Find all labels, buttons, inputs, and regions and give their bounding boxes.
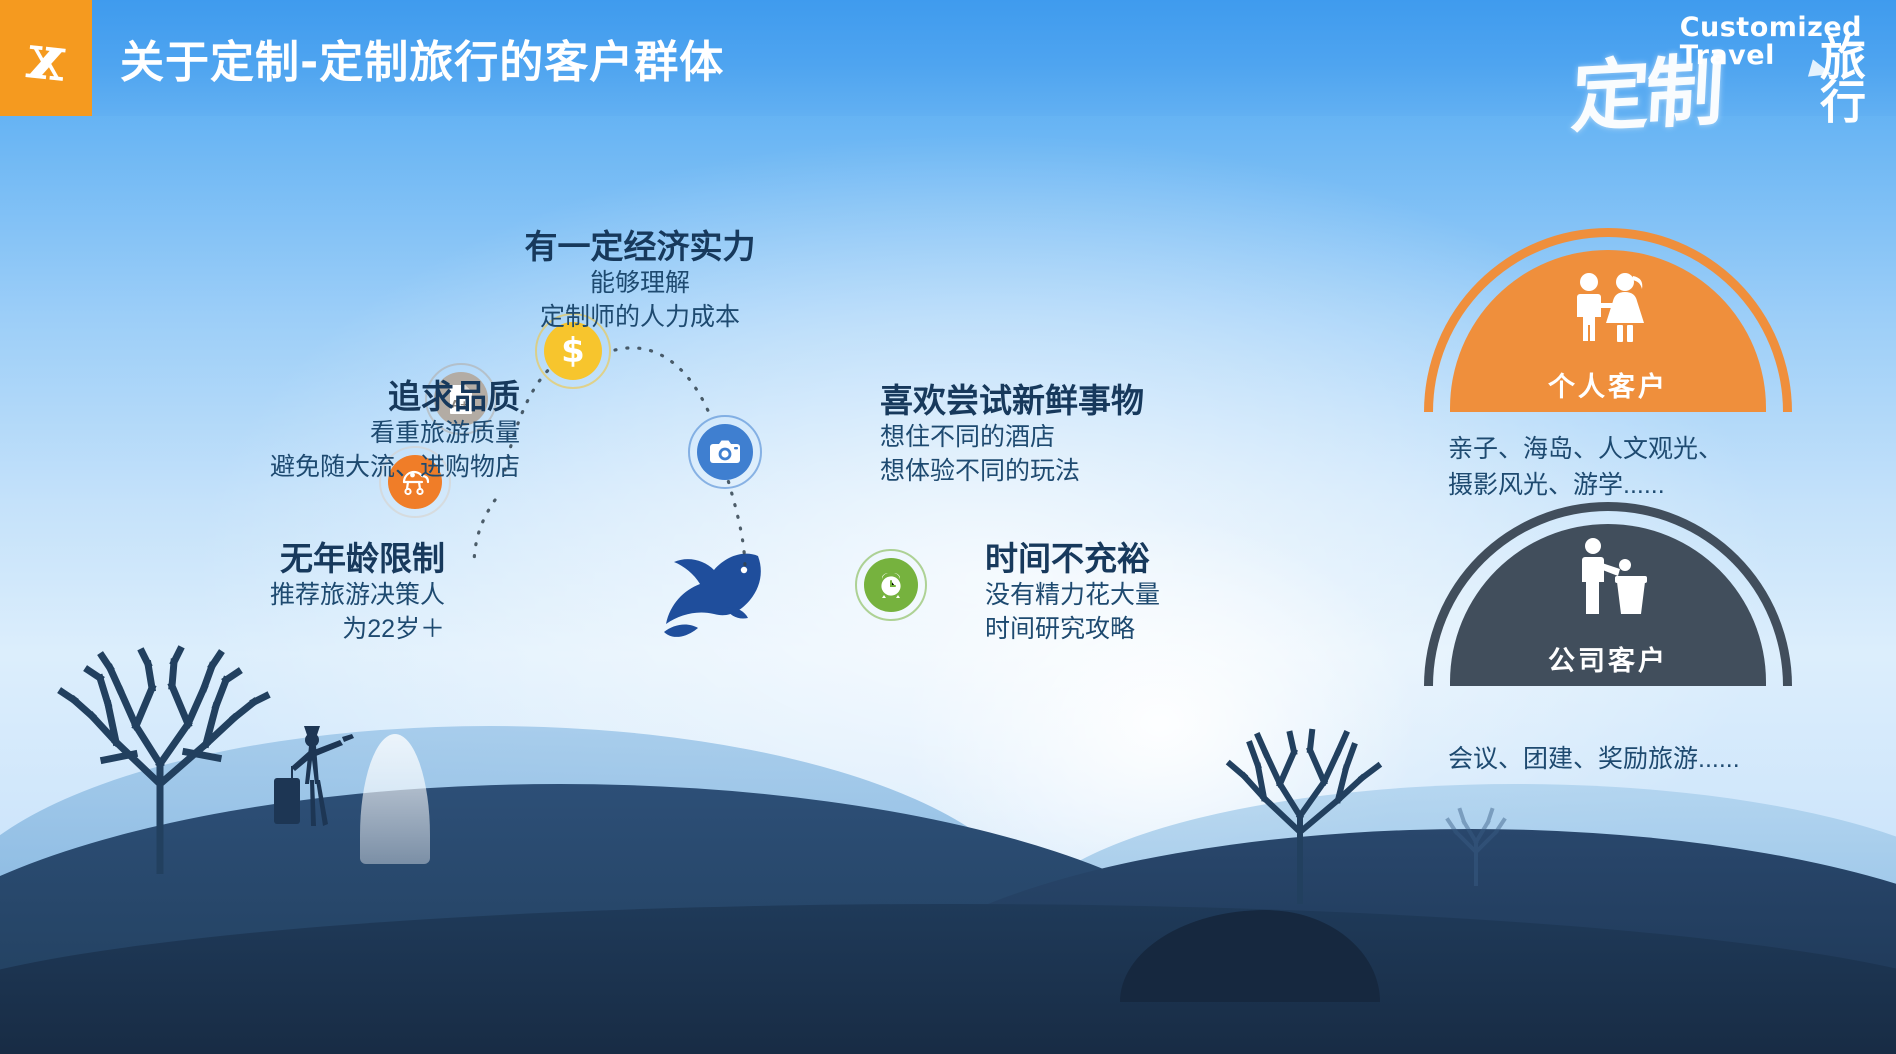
point-line-1: 看重旅游质量 [140, 417, 520, 451]
brand-logo-box: x [0, 0, 92, 116]
presenter-podium-icon [1565, 536, 1651, 627]
node-icon-freshness[interactable] [697, 424, 753, 480]
point-line-1: 推荐旅游决策人 [100, 579, 445, 613]
brand-mark: 定制 Customized Travel 旅 行 [1572, 4, 1872, 128]
bare-tree-icon [1206, 704, 1396, 904]
point-heading: 追求品质 [140, 378, 520, 417]
point-heading: 时间不充裕 [985, 540, 1385, 579]
page-title: 关于定制-定制旅行的客户群体 [120, 26, 724, 90]
point-block-quality: 追求品质 看重旅游质量 避免随大流、进购物店 [140, 378, 520, 484]
bare-tree-icon [48, 634, 278, 874]
node-ring [855, 549, 927, 621]
bare-tree-icon [1436, 796, 1516, 886]
point-line-2: 避免随大流、进购物店 [140, 451, 520, 485]
couple-figures-icon [1562, 270, 1654, 353]
customer-card-corporate-caption: 会议、团建、奖励旅游...... [1448, 742, 1828, 778]
point-block-economy: 有一定经济实力 能够理解 定制师的人力成本 [480, 228, 800, 334]
point-heading: 无年龄限制 [100, 540, 445, 579]
point-block-age: 无年龄限制 推荐旅游决策人 为22岁＋ [100, 540, 445, 646]
customer-card-corporate[interactable]: 公司客户 [1424, 502, 1792, 692]
slide-canvas: x 关于定制-定制旅行的客户群体 定制 Customized Travel 旅 … [0, 0, 1896, 1054]
card-label: 个人客户 [1548, 365, 1668, 404]
node-icon-time[interactable] [864, 558, 918, 612]
point-heading: 有一定经济实力 [480, 228, 800, 267]
customer-card-personal-caption: 亲子、海岛、人文观光、 摄影风光、游学...... [1448, 432, 1808, 503]
point-block-freshness: 喜欢尝试新鲜事物 想住不同的酒店 想体验不同的玩法 [880, 382, 1300, 488]
point-line-1: 想住不同的酒店 [880, 421, 1300, 455]
point-line-1: 能够理解 [480, 267, 800, 301]
dolphin-logo-icon: x [24, 25, 67, 91]
point-line-2: 想体验不同的玩法 [880, 455, 1300, 489]
point-line-2: 定制师的人力成本 [480, 301, 800, 335]
dolphin-icon [640, 540, 790, 665]
point-block-time: 时间不充裕 没有精力花大量 时间研究攻略 [985, 540, 1385, 646]
node-ring [688, 415, 762, 489]
point-line-2: 时间研究攻略 [985, 613, 1385, 647]
customer-card-personal[interactable]: 个人客户 [1424, 228, 1792, 418]
point-line-2: 为22岁＋ [100, 613, 445, 647]
point-line-1: 没有精力花大量 [985, 579, 1385, 613]
card-label: 公司客户 [1548, 639, 1668, 678]
point-heading: 喜欢尝试新鲜事物 [880, 382, 1300, 421]
